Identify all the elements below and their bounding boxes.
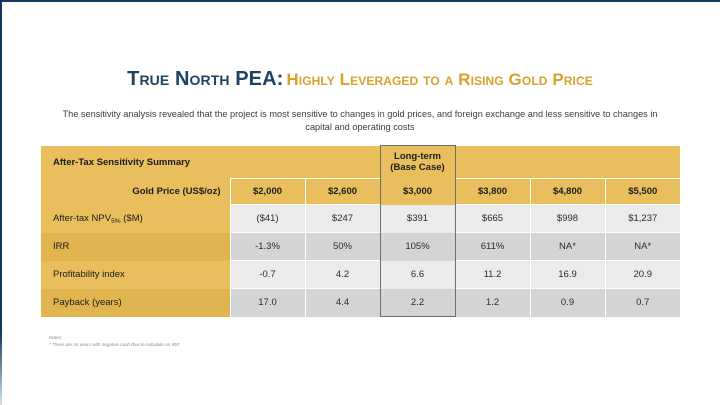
table-cell-r4-c6: 0.7 (605, 289, 680, 317)
row-label-1: After-tax NPV5% ($M) (41, 205, 230, 233)
column-header-price-5[interactable]: $4,800 (530, 179, 605, 205)
table-cell-r3-c4: 11.2 (455, 261, 530, 289)
gold-price-axis-label: Gold Price (US$/oz) (41, 179, 230, 205)
table-cell-r3-c6: 20.9 (605, 261, 680, 289)
table-cell-r2-c4: 611% (455, 233, 530, 261)
slide-canvas: True North PEA:Highly Leveraged to a Ris… (0, 0, 720, 405)
table-cell-r2-c6: NA* (605, 233, 680, 261)
sensitivity-table: After-Tax Sensitivity SummaryLong-term(B… (41, 145, 680, 317)
row-label-3: Profitability index (41, 261, 230, 289)
table-header-row-caption: After-Tax Sensitivity SummaryLong-term(B… (41, 146, 680, 179)
table-header-spacer (230, 146, 305, 179)
table-header-spacer (530, 146, 605, 179)
table-header-spacer (305, 146, 380, 179)
page-subtitle: The sensitivity analysis revealed that t… (60, 108, 660, 134)
footnote-line-1: * There are no years with negative cash … (49, 341, 179, 348)
column-header-price-6[interactable]: $5,500 (605, 179, 680, 205)
table-cell-r4-c5: 0.9 (530, 289, 605, 317)
row-label-4: Payback (years) (41, 289, 230, 317)
table-row: IRR-1.3%50%105%611%NA*NA* (41, 233, 680, 261)
column-header-price-3[interactable]: $3,000 (380, 179, 455, 205)
table-cell-r1-c4: $665 (455, 205, 530, 233)
page-title-main: True North PEA: (127, 68, 283, 90)
table-cell-r1-c6: $1,237 (605, 205, 680, 233)
footnotes: Notes: * There are no years with negativ… (49, 334, 179, 348)
page-title-subpart: Highly Leveraged to a Rising Gold Price (286, 70, 592, 89)
slide-frame-top-edge (0, 0, 720, 2)
row-label-text: IRR (53, 241, 69, 252)
table-cell-r1-c1: ($41) (230, 205, 305, 233)
table-row: After-tax NPV5% ($M)($41)$247$391$665$99… (41, 205, 680, 233)
base-case-label-line1: Long-term (394, 151, 441, 162)
table-cell-r3-c2: 4.2 (305, 261, 380, 289)
base-case-label-line2: (Base Case) (390, 162, 444, 173)
table-cell-r1-c3: $391 (380, 205, 455, 233)
table-cell-r4-c1: 17.0 (230, 289, 305, 317)
table-header-spacer (605, 146, 680, 179)
table-caption: After-Tax Sensitivity Summary (41, 146, 230, 179)
column-header-price-2[interactable]: $2,600 (305, 179, 380, 205)
table-cell-r1-c2: $247 (305, 205, 380, 233)
row-label-2: IRR (41, 233, 230, 261)
table-cell-r3-c5: 16.9 (530, 261, 605, 289)
row-label-text: Payback (years) (53, 297, 122, 308)
table-row: Payback (years)17.04.42.21.20.90.7 (41, 289, 680, 317)
table-row: Profitability index-0.74.26.611.216.920.… (41, 261, 680, 289)
page-title: True North PEA:Highly Leveraged to a Ris… (0, 68, 720, 91)
row-label-text: After-tax NPV (53, 213, 111, 224)
table-header-spacer (455, 146, 530, 179)
table-cell-r2-c3: 105% (380, 233, 455, 261)
row-label-subscript: 5% (111, 218, 121, 225)
footnote-heading: Notes: (49, 334, 179, 341)
slide-frame-left-edge (0, 0, 2, 405)
table-cell-r2-c2: 50% (305, 233, 380, 261)
table-cell-r2-c5: NA* (530, 233, 605, 261)
base-case-header: Long-term(Base Case) (380, 146, 455, 179)
row-label-text: Profitability index (53, 269, 125, 280)
table-header-row-prices: Gold Price (US$/oz)$2,000$2,600$3,000$3,… (41, 179, 680, 205)
table-cell-r4-c3: 2.2 (380, 289, 455, 317)
table-cell-r4-c4: 1.2 (455, 289, 530, 317)
column-header-price-4[interactable]: $3,800 (455, 179, 530, 205)
column-header-price-1[interactable]: $2,000 (230, 179, 305, 205)
table-cell-r4-c2: 4.4 (305, 289, 380, 317)
table-cell-r3-c3: 6.6 (380, 261, 455, 289)
row-label-suffix: ($M) (121, 213, 143, 224)
table-cell-r3-c1: -0.7 (230, 261, 305, 289)
table-cell-r2-c1: -1.3% (230, 233, 305, 261)
sensitivity-table-container: After-Tax Sensitivity SummaryLong-term(B… (41, 145, 680, 317)
table-cell-r1-c5: $998 (530, 205, 605, 233)
